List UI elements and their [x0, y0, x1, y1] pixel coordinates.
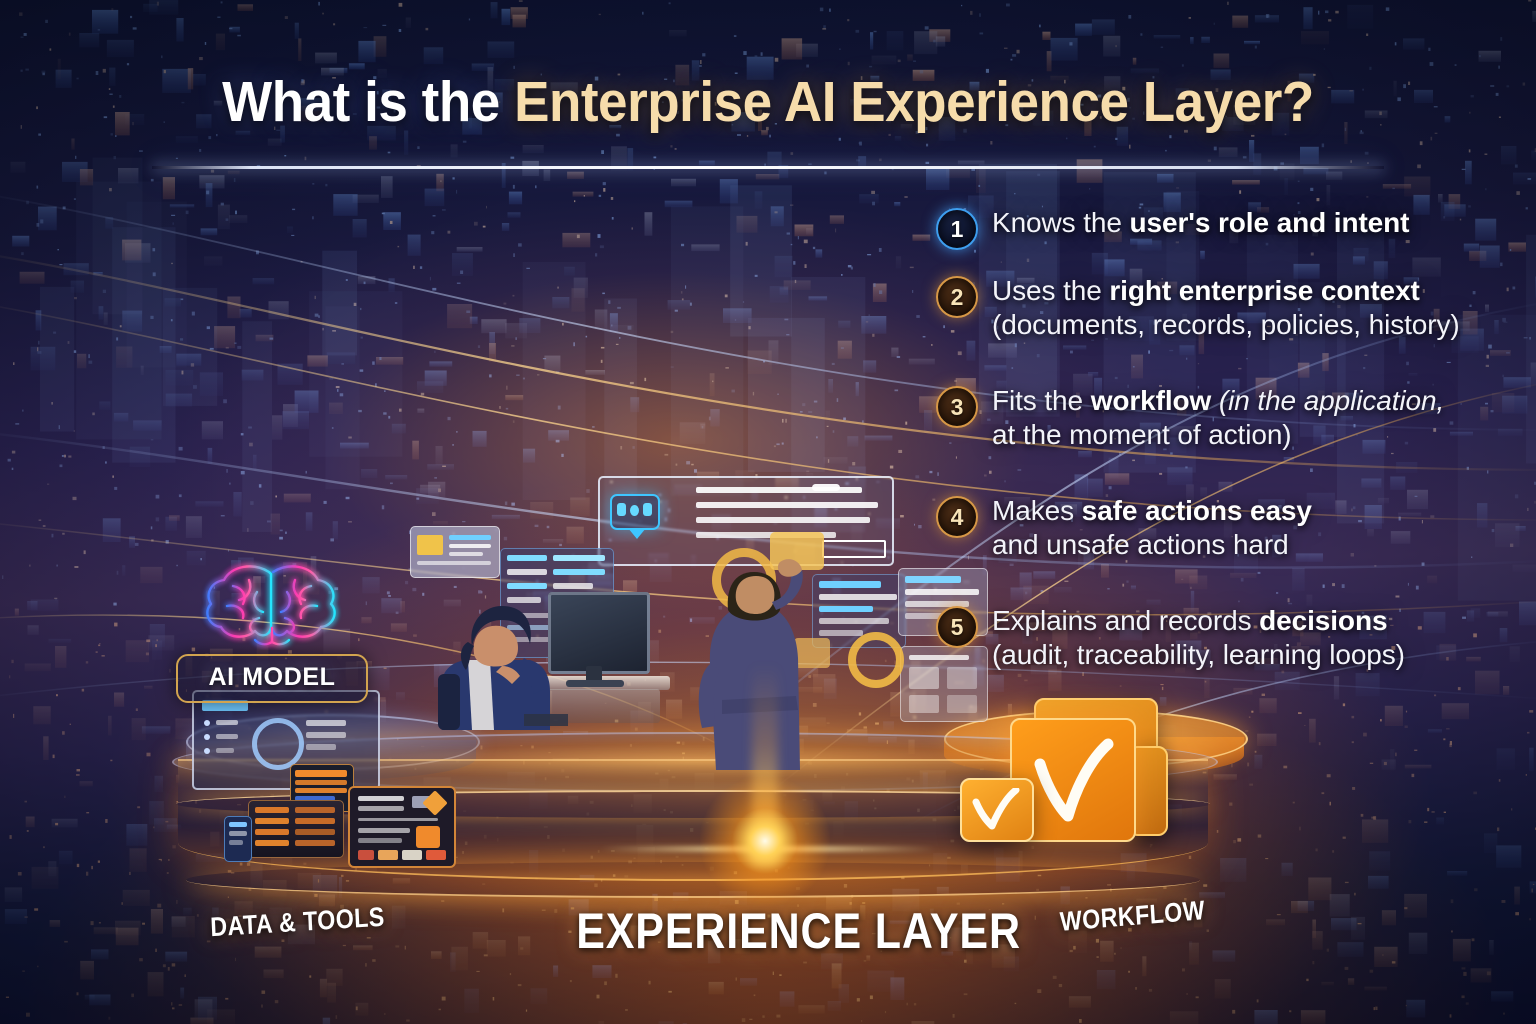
feature-number-badge-2: 2 — [936, 276, 978, 318]
feature-item-2: 2Uses the right enterprise context(docum… — [936, 274, 1460, 341]
page-title: What is the Enterprise AI Experience Lay… — [54, 74, 1482, 131]
feature-line1-3: Fits the workflow (in the application, — [992, 385, 1444, 416]
title-white-part: What is the — [222, 70, 514, 134]
platform-rim-bottom — [186, 862, 1200, 898]
blue-mini-panel — [224, 816, 252, 862]
feature-item-4: 4Makes safe actions easyand unsafe actio… — [936, 494, 1312, 561]
checkmark-icon-small — [972, 788, 1020, 830]
center-glow-burst — [700, 776, 830, 906]
workflow-card-small — [960, 778, 1034, 842]
central-scene — [430, 470, 990, 770]
workflow-props — [960, 692, 1210, 862]
feature-item-1: 1Knows the user's role and intent — [936, 206, 1409, 250]
checkmark-icon — [1034, 738, 1114, 822]
feature-text-1: Knows the user's role and intent — [992, 206, 1409, 240]
feature-line2-3: at the moment of action) — [992, 418, 1444, 452]
ai-model-block: AI MODEL — [176, 556, 368, 703]
feature-item-3: 3Fits the workflow (in the application,a… — [936, 384, 1444, 451]
feature-number-badge-5: 5 — [936, 606, 978, 648]
feature-line2-2: (documents, records, policies, history) — [992, 308, 1460, 342]
infographic-poster: What is the Enterprise AI Experience Lay… — [0, 0, 1536, 1024]
platform-label-data-tools: DATA & TOOLS — [210, 902, 386, 944]
title-divider — [152, 166, 1384, 169]
feature-line1-4: Makes safe actions easy — [992, 495, 1312, 526]
monitor-base — [566, 680, 624, 687]
feature-line2-4: and unsafe actions hard — [992, 528, 1312, 562]
tools-dashboard-card — [348, 786, 456, 868]
feature-text-2: Uses the right enterprise context(docume… — [992, 274, 1460, 341]
ai-model-label-box: AI MODEL — [176, 654, 368, 703]
amber-badge-icon-b — [848, 632, 904, 688]
feature-number-badge-4: 4 — [936, 496, 978, 538]
chat-bubble-icon — [610, 494, 660, 530]
server-rack-icon — [248, 800, 344, 858]
feature-line1-2: Uses the right enterprise context — [992, 275, 1420, 306]
feature-line2-5: (audit, traceability, learning loops) — [992, 638, 1405, 672]
platform-label-experience-layer: EXPERIENCE LAYER — [576, 902, 1021, 960]
feature-line1-5: Explains and records decisions — [992, 605, 1387, 636]
feature-number-badge-3: 3 — [936, 386, 978, 428]
feature-text-5: Explains and records decisions(audit, tr… — [992, 604, 1405, 671]
feature-text-4: Makes safe actions easyand unsafe action… — [992, 494, 1312, 561]
data-tools-props — [186, 690, 466, 860]
platform-label-workflow: WORKFLOW — [1059, 895, 1206, 938]
feature-line1-1: Knows the user's role and intent — [992, 207, 1409, 238]
feature-number-badge-1: 1 — [936, 208, 978, 250]
feature-item-5: 5Explains and records decisions(audit, t… — [936, 604, 1405, 671]
brain-icon — [176, 556, 368, 652]
title-gold-part: Enterprise AI Experience Layer? — [514, 70, 1314, 134]
feature-text-3: Fits the workflow (in the application,at… — [992, 384, 1444, 451]
ai-model-label: AI MODEL — [208, 663, 335, 691]
center-flare-streak — [600, 846, 936, 852]
standing-manager-figure — [676, 514, 822, 770]
